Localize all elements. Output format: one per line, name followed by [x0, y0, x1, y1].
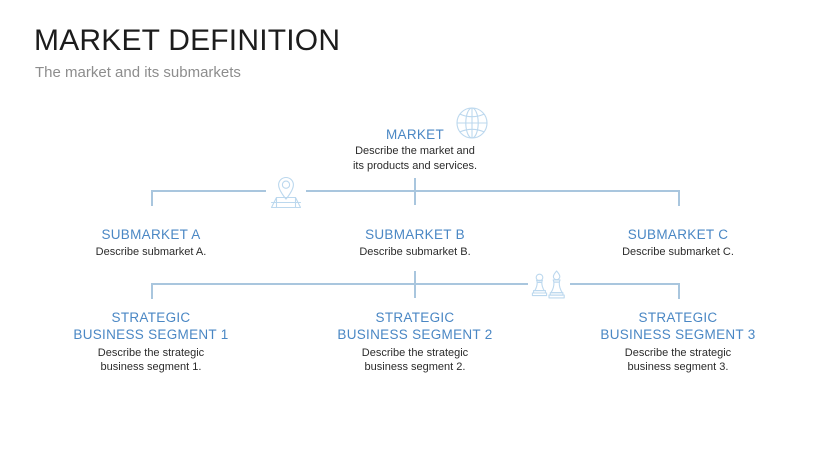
node-submarket-b-description: Describe submarket B. — [315, 245, 515, 259]
page-title: MARKET DEFINITION — [34, 24, 340, 57]
node-segment-1-label: STRATEGIC BUSINESS SEGMENT 1 — [51, 309, 251, 344]
chess-pieces-icon — [527, 266, 571, 308]
node-submarket-a-description: Describe submarket A. — [51, 245, 251, 259]
connector-submarket-c-drop — [678, 190, 680, 206]
node-submarket-a-label: SUBMARKET A — [51, 226, 251, 243]
node-submarket-b: SUBMARKET B Describe submarket B. — [315, 226, 515, 260]
map-pin-icon — [265, 172, 307, 214]
node-segment-2-label: STRATEGIC BUSINESS SEGMENT 2 — [315, 309, 515, 344]
node-segment-3: STRATEGIC BUSINESS SEGMENT 3 Describe th… — [578, 309, 778, 374]
node-submarket-c-description: Describe submarket C. — [578, 245, 778, 259]
slide-canvas: MARKET DEFINITION The market and its sub… — [0, 0, 829, 466]
node-segment-3-label: STRATEGIC BUSINESS SEGMENT 3 — [578, 309, 778, 344]
connector-submarkets-bus — [151, 190, 680, 192]
node-market-label: MARKET — [315, 126, 515, 143]
node-market: MARKET Describe the market and its produ… — [315, 126, 515, 173]
page-subtitle: The market and its submarkets — [35, 64, 241, 82]
connector-segment-1-drop — [151, 283, 153, 299]
node-segment-3-description: Describe the strategic business segment … — [578, 346, 778, 375]
node-submarket-a: SUBMARKET A Describe submarket A. — [51, 226, 251, 260]
connector-submarket-a-drop — [151, 190, 153, 206]
node-segment-1-description: Describe the strategic business segment … — [51, 346, 251, 375]
node-submarket-c-label: SUBMARKET C — [578, 226, 778, 243]
node-submarket-b-label: SUBMARKET B — [315, 226, 515, 243]
node-segment-1: STRATEGIC BUSINESS SEGMENT 1 Describe th… — [51, 309, 251, 374]
node-segment-2: STRATEGIC BUSINESS SEGMENT 2 Describe th… — [315, 309, 515, 374]
connector-segment-3-drop — [678, 283, 680, 299]
node-market-description: Describe the market and its products and… — [315, 144, 515, 173]
node-submarket-c: SUBMARKET C Describe submarket C. — [578, 226, 778, 260]
node-segment-2-description: Describe the strategic business segment … — [315, 346, 515, 375]
connector-segments-bus — [151, 283, 680, 285]
